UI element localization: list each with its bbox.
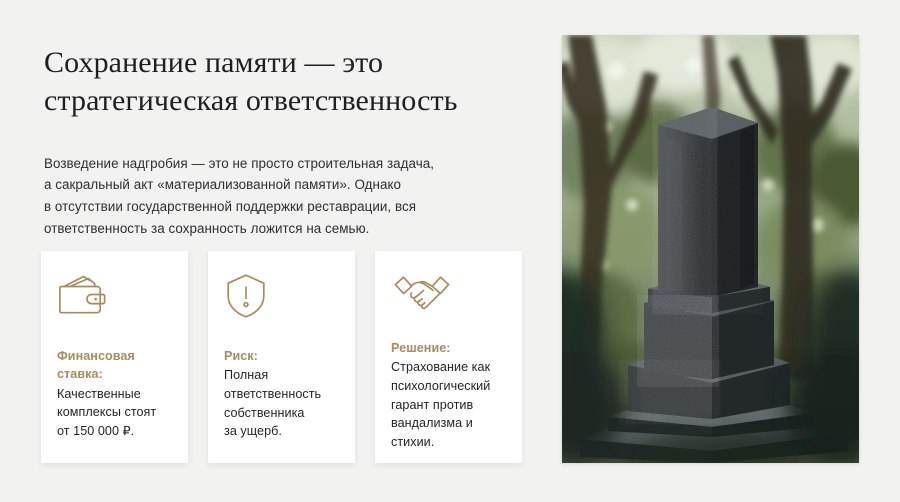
shield-alert-icon: [224, 271, 339, 321]
feature-card-label: Решение:: [391, 339, 506, 357]
feature-card-label: Риск:: [224, 347, 339, 365]
card-body-line-2: ответственность: [224, 385, 339, 404]
card-body-line-4: за ущерб.: [224, 422, 339, 441]
handshake-icon: [391, 271, 506, 313]
card-body-line-2: психологический: [391, 377, 506, 396]
feature-card-risk: Риск: Полная ответственность собственник…: [208, 251, 355, 463]
card-label-line-2: ставка:: [57, 365, 172, 383]
card-label-line-1: Риск:: [224, 347, 339, 365]
gravestone-photo: [562, 35, 859, 463]
card-body-line-5: стихии.: [391, 433, 506, 452]
left-content-column: Сохранение памяти — это стратегическая о…: [44, 44, 530, 239]
card-body-line-2: комплексы стоят: [57, 403, 172, 422]
card-label-line-1: Финансовая: [57, 347, 172, 365]
card-body-line-1: Полная: [224, 366, 339, 385]
card-body-line-3: от 150 000 ₽.: [57, 422, 172, 441]
card-body-line-1: Страхование как: [391, 358, 506, 377]
feature-card-financial: Финансовая ставка: Качественные комплекс…: [41, 251, 188, 463]
intro-paragraph-line-1: Возведение надгробия — это не просто стр…: [44, 153, 530, 175]
feature-card-body: Страхование как психологический гарант п…: [391, 358, 506, 451]
page-title-line-1: Сохранение памяти — это: [44, 44, 530, 82]
page-title-line-2: стратегическая ответственность: [44, 82, 530, 120]
feature-card-body: Полная ответственность собственника за у…: [224, 366, 339, 441]
card-label-line-1: Решение:: [391, 339, 506, 357]
feature-card-list: Финансовая ставка: Качественные комплекс…: [41, 251, 522, 463]
card-body-line-3: гарант против: [391, 396, 506, 415]
feature-card-label: Финансовая ставка:: [57, 347, 172, 384]
page-title: Сохранение памяти — это стратегическая о…: [44, 44, 530, 120]
intro-paragraph: Возведение надгробия — это не просто стр…: [44, 120, 530, 240]
wallet-icon: [57, 271, 172, 321]
slide-root: Сохранение памяти — это стратегическая о…: [0, 0, 900, 502]
intro-paragraph-line-2: а сакральный акт «материализованной памя…: [44, 174, 530, 196]
feature-card-body: Качественные комплексы стоят от 150 000 …: [57, 385, 172, 441]
card-body-line-3: собственника: [224, 404, 339, 423]
card-body-line-4: вандализма и: [391, 414, 506, 433]
intro-paragraph-line-4: ответственность за сохранность ложится н…: [44, 218, 530, 240]
feature-card-solution: Решение: Страхование как психологический…: [375, 251, 522, 463]
intro-paragraph-line-3: в отсутствии государственной поддержки р…: [44, 196, 530, 218]
gravestone-photo-illustration: [562, 35, 859, 463]
card-body-line-1: Качественные: [57, 385, 172, 404]
